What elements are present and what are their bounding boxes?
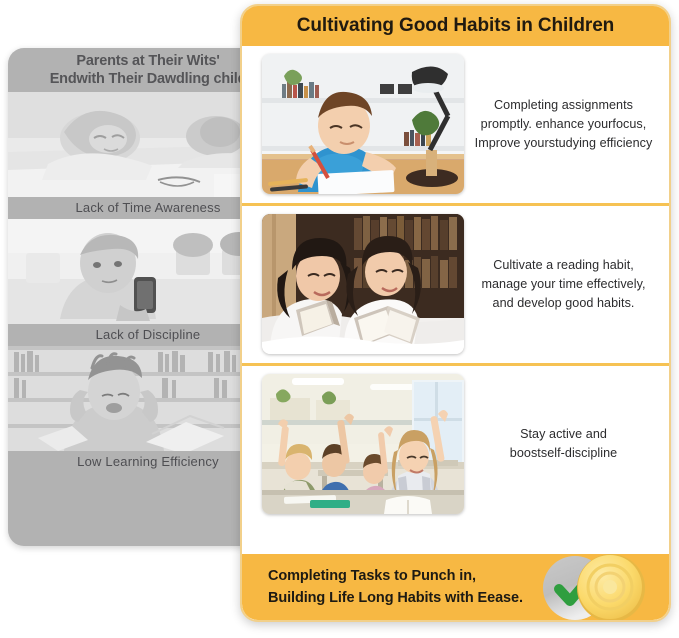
boy-writing-illustration xyxy=(262,54,464,194)
problems-heading-line-1: Parents at Their Wits' xyxy=(76,52,219,70)
habit-row-photo-wrap xyxy=(242,54,464,194)
habit-row[interactable]: Completing assignments promptly. enhance… xyxy=(242,46,669,206)
habit-text-line-2: boostself-discipline xyxy=(468,444,659,463)
habit-text-line-3: and develop good habits. xyxy=(468,294,659,313)
habits-panel: Cultivating Good Habits in Children xyxy=(240,4,671,622)
footer-badge xyxy=(525,548,655,622)
habit-row-text: Stay active and boostself-discipline xyxy=(464,425,669,463)
mother-daughter-reading-photo xyxy=(262,214,464,354)
habit-text-line-3: Improve yourstudying efficiency xyxy=(468,134,659,153)
boy-writing-homework-photo xyxy=(262,54,464,194)
habits-row-list: Completing assignments promptly. enhance… xyxy=(242,46,669,523)
footer-slogan: Completing Tasks to Punch in, Building L… xyxy=(242,565,523,609)
habit-row-text: Cultivate a reading habit, manage your t… xyxy=(464,256,669,313)
mother-daughter-reading-illustration xyxy=(262,214,464,354)
footer-slogan-line-1: Completing Tasks to Punch in, xyxy=(268,565,523,587)
problems-heading-line-2: Endwith Their Dawdling child xyxy=(50,70,247,88)
habit-row-photo-wrap xyxy=(242,374,464,514)
habits-panel-footer: Completing Tasks to Punch in, Building L… xyxy=(242,554,669,620)
habit-text-line-2: promptly. enhance yourfocus, xyxy=(468,115,659,134)
classroom-illustration xyxy=(262,374,464,514)
habit-text-line-1: Cultivate a reading habit, xyxy=(468,256,659,275)
page-title: Cultivating Good Habits in Children xyxy=(297,15,614,37)
footer-slogan-line-2: Building Life Long Habits with Eease. xyxy=(268,587,523,609)
classroom-hands-raised-photo xyxy=(262,374,464,514)
habit-text-line-1: Stay active and xyxy=(468,425,659,444)
habit-row-photo-wrap xyxy=(242,214,464,354)
gold-coin-icon xyxy=(577,554,645,622)
habit-row-text: Completing assignments promptly. enhance… xyxy=(464,96,669,153)
habit-row[interactable]: Stay active and boostself-discipline xyxy=(242,366,669,523)
footer-badge-illustration xyxy=(525,548,655,622)
habit-text-line-2: manage your time effectively, xyxy=(468,275,659,294)
habit-row[interactable]: Cultivate a reading habit, manage your t… xyxy=(242,206,669,366)
habits-panel-header: Cultivating Good Habits in Children xyxy=(242,6,669,46)
habit-text-line-1: Completing assignments xyxy=(468,96,659,115)
